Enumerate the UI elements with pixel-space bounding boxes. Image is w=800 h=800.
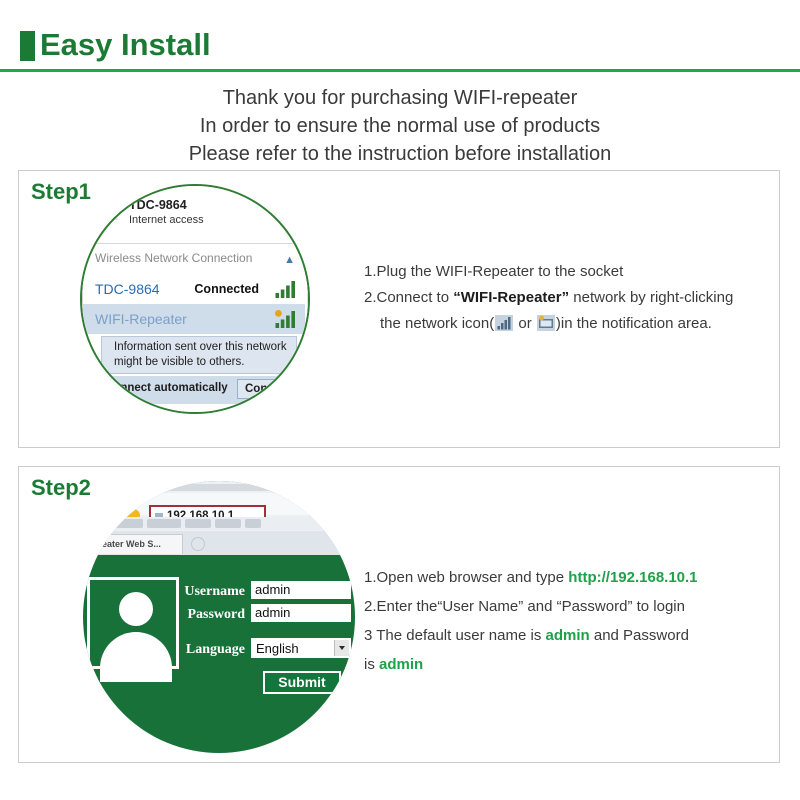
signal-bars-icon — [275, 280, 297, 298]
step1-label: Step1 — [31, 179, 91, 205]
flyout-network-list-panel: Wireless Network Connection ▲ TDC-9864 C… — [82, 244, 310, 414]
tooltip-line-1: Information sent over this network — [114, 341, 287, 353]
flyout-current-status: Internet access — [129, 214, 204, 226]
step1-line3-part2: )in the notification area. — [556, 315, 712, 332]
step2-line3-admin: admin — [546, 627, 590, 644]
toolbar-blob — [245, 519, 261, 528]
network-list-item[interactable]: WIFI-Repeater — [83, 304, 305, 334]
step1-instruction-line-2: 2.Connect to “WIFI-Repeater” network by … — [364, 285, 774, 311]
language-select[interactable]: English — [251, 638, 351, 658]
password-label: Password — [165, 607, 245, 623]
connect-button[interactable]: Connect — [237, 379, 299, 399]
network-warning-tooltip: Information sent over this network might… — [101, 336, 297, 374]
flyout-current-ssid: TDC-9864 — [129, 198, 187, 212]
step1-instructions: 1.Plug the WIFI-Repeater to the socket 2… — [364, 259, 774, 337]
green-block-logo-icon — [20, 31, 35, 61]
step1-illustration-circle: TDC-9864 Internet access Wireless Networ… — [80, 184, 310, 414]
step1-line3-part1: the network icon( — [380, 315, 494, 332]
step1-instruction-line-3: the network icon( or )in the notificatio… — [364, 311, 774, 337]
browser-toolbar-row — [83, 517, 355, 530]
step2-line4-admin: admin — [379, 656, 423, 673]
avatar-head — [119, 592, 153, 626]
browser-tab-row: eater Web S... — [83, 531, 355, 555]
page-header: Easy Install — [0, 0, 800, 72]
step2-line1-url: http://192.168.10.1 — [568, 569, 697, 586]
tooltip-line-2: might be visible to others. — [114, 356, 244, 368]
chevron-up-icon[interactable]: ▲ — [284, 254, 295, 266]
flyout-scrollbar[interactable] — [307, 274, 310, 404]
language-select-value: English — [256, 641, 299, 656]
wireless-network-flyout: TDC-9864 Internet access Wireless Networ… — [80, 186, 310, 414]
connect-automatically-checkbox[interactable] — [89, 384, 100, 395]
toolbar-blob — [147, 519, 181, 528]
intro-line-3: Please refer to the instruction before i… — [0, 140, 800, 168]
step2-instruction-line-2: 2.Enter the“User Name” and “Password” to… — [364, 592, 776, 621]
toolbar-blob — [215, 519, 241, 528]
step2-instruction-line-3: 3 The default user name is admin and Pas… — [364, 621, 776, 650]
avatar-body — [100, 632, 172, 682]
chevron-down-icon[interactable] — [334, 640, 349, 656]
intro-paragraph: Thank you for purchasing WIFI-repeater I… — [0, 84, 800, 168]
network-name: WIFI-Repeater — [95, 311, 187, 327]
network-list-item[interactable]: TDC-9864 Connected — [83, 274, 305, 304]
wifi-status-icon — [101, 204, 118, 220]
network-status: Connected — [194, 282, 259, 296]
browser-menu-strip — [163, 484, 273, 491]
page-title: Easy Install — [40, 28, 211, 62]
intro-line-1: Thank you for purchasing WIFI-repeater — [0, 84, 800, 112]
username-input[interactable]: admin — [251, 581, 351, 599]
language-label: Language — [165, 642, 245, 658]
step2-line1-part1: 1.Open web browser and type — [364, 569, 568, 586]
flyout-current-connection: TDC-9864 Internet access — [80, 186, 310, 244]
step1-line2-part1: 2.Connect to — [364, 289, 453, 306]
signal-bars-unsecured-icon — [275, 310, 297, 328]
step2-line3-part2: and Password — [590, 627, 689, 644]
step2-line3-part1: 3 The default user name is — [364, 627, 546, 644]
header-divider — [0, 69, 800, 72]
scrollbar-thumb[interactable] — [309, 276, 310, 372]
username-label: Username — [165, 584, 245, 600]
step1-instruction-line-1: 1.Plug the WIFI-Repeater to the socket — [364, 259, 774, 285]
connect-automatically-label: Connect automatically — [105, 382, 228, 394]
password-input[interactable]: admin — [251, 604, 351, 622]
step2-section: Step2 192.168.10.1 eater We — [18, 466, 780, 763]
step1-section: Step1 TDC-9864 Internet access Wireless … — [18, 170, 780, 448]
step2-instruction-line-4: is admin — [364, 650, 776, 679]
step1-line2-part2: network by right-clicking — [569, 289, 733, 306]
browser-tab[interactable]: eater Web S... — [97, 534, 183, 554]
browser-tab-title: eater Web S... — [102, 539, 161, 549]
flyout-section-header[interactable]: Wireless Network Connection ▲ — [83, 244, 310, 272]
step2-label: Step2 — [31, 475, 91, 501]
step2-instructions: 1.Open web browser and type http://192.1… — [364, 563, 776, 679]
step2-instruction-line-1: 1.Open web browser and type http://192.1… — [364, 563, 776, 592]
browser-chrome: 192.168.10.1 eater Web S... — [83, 481, 355, 555]
step2-illustration-circle: 192.168.10.1 eater Web S... Us — [83, 481, 355, 753]
connect-action-bar: Connect automatically Connect — [83, 376, 305, 404]
browser-address-row: 192.168.10.1 — [83, 493, 355, 515]
new-tab-icon[interactable] — [191, 537, 205, 551]
toolbar-blob — [109, 519, 143, 528]
step2-line4-part1: is — [364, 656, 379, 673]
signal-bars-icon — [495, 315, 513, 331]
intro-line-2: In order to ensure the normal use of pro… — [0, 112, 800, 140]
toolbar-blob — [185, 519, 211, 528]
step1-line2-quoted: “WIFI-Repeater” — [453, 289, 569, 306]
network-monitor-icon — [537, 315, 555, 331]
submit-button[interactable]: Submit — [263, 671, 341, 694]
flyout-section-header-label: Wireless Network Connection — [95, 251, 252, 265]
step1-line3-or: or — [514, 315, 536, 332]
toolbar-blob — [89, 519, 105, 528]
network-name: TDC-9864 — [95, 281, 160, 297]
